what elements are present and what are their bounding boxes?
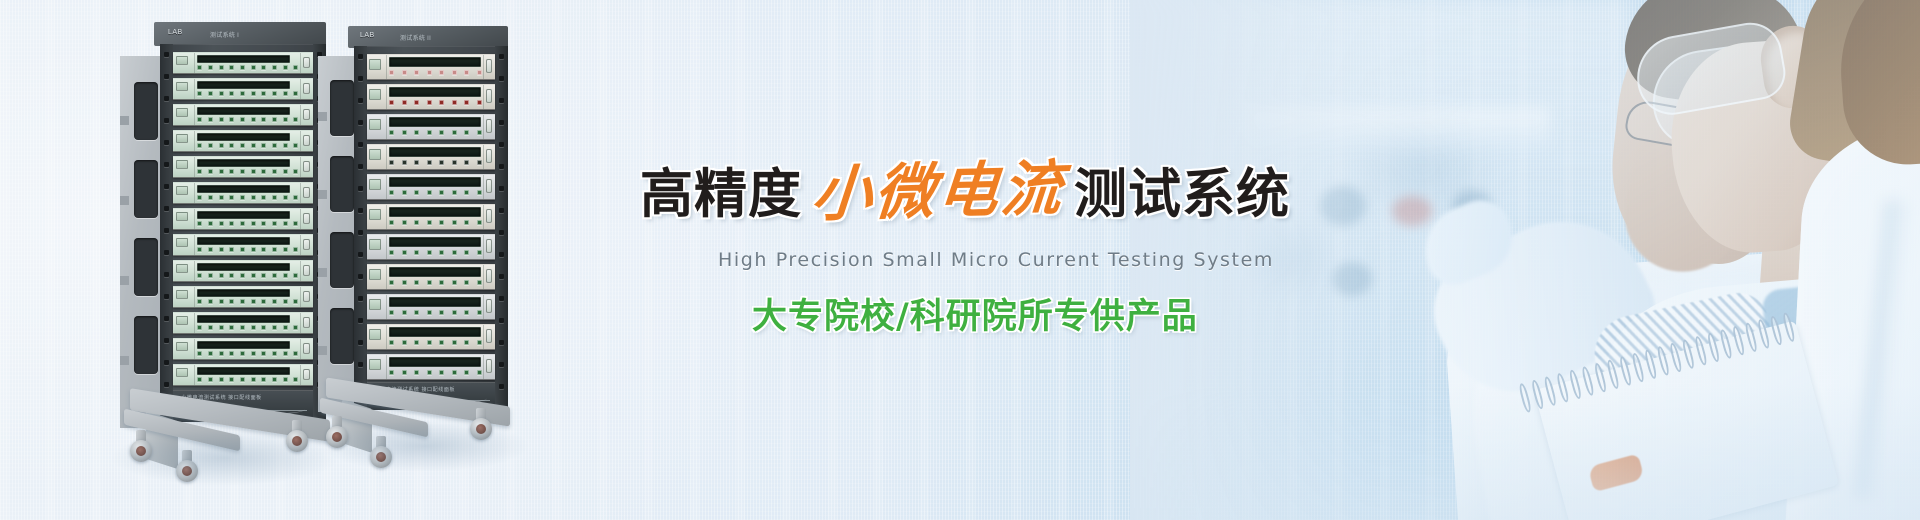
module-center xyxy=(387,355,483,379)
module-knob[interactable] xyxy=(303,265,310,277)
rack-brand-label: LAB xyxy=(360,32,375,39)
module-display-small xyxy=(176,368,189,377)
module-button-row[interactable] xyxy=(197,167,298,175)
instrument-module[interactable] xyxy=(173,364,313,386)
module-center xyxy=(195,131,300,151)
instrument-module[interactable] xyxy=(367,354,495,380)
rack-side-notch xyxy=(318,268,327,277)
instrument-module[interactable] xyxy=(173,182,313,204)
rack-frame: 小微电流测试系统 接口配线面板 xyxy=(354,46,508,410)
module-left-bay xyxy=(173,261,195,281)
module-center xyxy=(195,53,300,73)
module-readout xyxy=(197,341,289,349)
rack-side-notch xyxy=(120,276,129,285)
rack-brand-label: LAB xyxy=(168,29,183,36)
module-left-bay xyxy=(173,209,195,229)
module-readout xyxy=(389,207,480,217)
module-button-row[interactable] xyxy=(389,278,481,287)
module-readout xyxy=(389,267,480,277)
module-right-bay xyxy=(300,157,313,177)
module-center xyxy=(387,115,483,139)
module-knob[interactable] xyxy=(486,299,492,313)
module-button-row[interactable] xyxy=(389,188,481,197)
module-right-bay xyxy=(300,313,313,333)
module-right-bay xyxy=(483,325,495,349)
module-left-bay xyxy=(367,145,387,169)
module-button-row[interactable] xyxy=(197,271,298,279)
module-left-bay xyxy=(173,53,195,73)
module-right-bay xyxy=(300,79,313,99)
headline-trail-text: 测试系统 xyxy=(1074,168,1290,221)
module-display-small xyxy=(369,239,381,250)
module-center xyxy=(195,313,300,333)
module-right-bay xyxy=(300,209,313,229)
rack-vent-slot xyxy=(134,82,159,140)
module-knob[interactable] xyxy=(303,135,310,147)
rack-cabinet-right: LAB 测试系统 II xyxy=(318,26,518,434)
module-left-bay xyxy=(367,235,387,259)
product-banner: LAB 测试系统 I xyxy=(0,0,1920,520)
rack-cabinet-left: LAB 测试系统 I xyxy=(120,22,340,442)
instrument-module[interactable] xyxy=(173,130,313,152)
module-left-bay xyxy=(173,183,195,203)
module-readout xyxy=(389,327,480,337)
module-button-row[interactable] xyxy=(197,323,298,331)
module-display-small xyxy=(369,299,381,310)
module-button-row[interactable] xyxy=(197,63,298,71)
module-right-bay xyxy=(483,235,495,259)
module-right-bay xyxy=(300,261,313,281)
module-right-bay xyxy=(483,205,495,229)
module-knob[interactable] xyxy=(303,213,310,225)
rack-vent-slot xyxy=(134,238,159,296)
module-readout xyxy=(197,185,289,193)
instrument-module[interactable] xyxy=(173,234,313,256)
module-left-bay xyxy=(367,355,387,379)
module-center xyxy=(387,85,483,109)
module-readout xyxy=(197,289,289,297)
headline-lead-text: 高精度 xyxy=(640,168,802,221)
module-left-bay xyxy=(173,339,195,359)
module-right-bay xyxy=(483,355,495,379)
module-knob[interactable] xyxy=(303,83,310,95)
rack-side-notch xyxy=(318,112,327,121)
rack-floor-shadow xyxy=(110,430,340,486)
module-button-row[interactable] xyxy=(197,89,298,97)
module-button-row[interactable] xyxy=(197,297,298,305)
module-center xyxy=(387,295,483,319)
module-readout xyxy=(197,315,289,323)
module-display-small xyxy=(176,290,189,299)
module-readout xyxy=(389,297,480,307)
module-center xyxy=(387,55,483,79)
module-right-bay xyxy=(300,105,313,125)
module-button-row[interactable] xyxy=(197,245,298,253)
module-readout xyxy=(389,177,480,187)
module-right-bay xyxy=(300,53,313,73)
module-display-small xyxy=(369,359,381,370)
module-center xyxy=(387,205,483,229)
module-knob[interactable] xyxy=(486,89,492,103)
module-readout xyxy=(197,263,289,271)
instrument-module[interactable] xyxy=(367,294,495,320)
module-readout xyxy=(389,147,480,157)
rack-side-notch xyxy=(120,196,129,205)
module-readout xyxy=(389,237,480,247)
module-button-row[interactable] xyxy=(389,98,481,107)
module-display-small xyxy=(369,179,381,190)
module-left-bay xyxy=(367,295,387,319)
module-left-bay xyxy=(367,55,387,79)
headline-accent-text: 小微电流 xyxy=(799,158,1076,225)
instrument-module[interactable] xyxy=(367,264,495,290)
module-left-bay xyxy=(173,131,195,151)
module-knob[interactable] xyxy=(486,359,492,373)
module-left-bay xyxy=(173,313,195,333)
module-knob[interactable] xyxy=(303,57,310,69)
instrument-module[interactable] xyxy=(173,312,313,334)
rack-mounting-rail-right xyxy=(495,46,508,410)
module-knob[interactable] xyxy=(486,149,492,163)
module-right-bay xyxy=(300,365,313,385)
module-knob[interactable] xyxy=(303,239,310,251)
rack-top-cap: LAB 测试系统 II xyxy=(348,26,508,48)
module-right-bay xyxy=(483,295,495,319)
module-right-bay xyxy=(483,55,495,79)
module-readout xyxy=(389,357,480,367)
module-left-bay xyxy=(173,235,195,255)
rack-side-notch xyxy=(120,116,129,125)
module-display-small xyxy=(176,160,189,169)
module-display-small xyxy=(369,89,381,100)
module-display-small xyxy=(176,264,189,273)
module-button-row[interactable] xyxy=(197,349,298,357)
module-center xyxy=(195,287,300,307)
module-center xyxy=(195,235,300,255)
module-left-bay xyxy=(173,287,195,307)
rack-side-notch xyxy=(318,346,327,355)
module-knob[interactable] xyxy=(303,187,310,199)
instrument-module[interactable] xyxy=(367,204,495,230)
rack-vent-slot xyxy=(330,308,353,364)
module-knob[interactable] xyxy=(486,269,492,283)
module-button-row[interactable] xyxy=(389,368,481,377)
rack-mounting-rail-left xyxy=(354,46,367,410)
module-readout xyxy=(197,81,289,89)
rack-model-badge: 测试系统 II xyxy=(400,33,431,42)
module-knob[interactable] xyxy=(303,109,310,121)
module-display-small xyxy=(176,108,189,117)
module-right-bay xyxy=(300,235,313,255)
module-knob[interactable] xyxy=(486,329,492,343)
rack-top-cap: LAB 测试系统 I xyxy=(154,22,326,46)
module-display-small xyxy=(369,209,381,220)
module-display-small xyxy=(176,212,189,221)
module-right-bay xyxy=(483,115,495,139)
module-knob[interactable] xyxy=(486,59,492,73)
module-display-small xyxy=(176,56,189,65)
module-display-small xyxy=(369,329,381,340)
banner-headline: 高精度 小微电流 测试系统 xyxy=(640,162,1290,222)
module-knob[interactable] xyxy=(486,119,492,133)
instrument-module[interactable] xyxy=(173,78,313,100)
module-button-row[interactable] xyxy=(389,248,481,257)
module-left-bay xyxy=(367,205,387,229)
module-knob[interactable] xyxy=(486,239,492,253)
module-button-row[interactable] xyxy=(197,219,298,227)
banner-tagline: 大专院校/科研院所专供产品 xyxy=(752,288,1198,339)
rack-mounting-rail-left xyxy=(160,44,173,422)
module-knob[interactable] xyxy=(303,161,310,173)
rack-vent-slot xyxy=(134,316,159,374)
module-right-bay xyxy=(300,131,313,151)
rack-vent-slot xyxy=(330,232,353,288)
rack-vent-slot xyxy=(330,80,353,136)
module-readout xyxy=(389,57,480,67)
instrument-module[interactable] xyxy=(173,104,313,126)
instrument-module[interactable] xyxy=(367,114,495,140)
equipment-racks: LAB 测试系统 I xyxy=(0,0,620,520)
rack-side-notch xyxy=(318,190,327,199)
module-readout xyxy=(197,133,289,141)
module-center xyxy=(195,261,300,281)
module-readout xyxy=(197,107,289,115)
module-display-small xyxy=(369,149,381,160)
module-display-small xyxy=(176,342,189,351)
instrument-module[interactable] xyxy=(173,208,313,230)
module-right-bay xyxy=(483,85,495,109)
module-display-small xyxy=(369,269,381,280)
module-center xyxy=(195,183,300,203)
module-button-row[interactable] xyxy=(389,68,481,77)
module-left-bay xyxy=(173,79,195,99)
module-right-bay xyxy=(483,175,495,199)
module-readout xyxy=(197,55,289,63)
module-button-row[interactable] xyxy=(197,375,298,383)
module-center xyxy=(195,79,300,99)
module-display-small xyxy=(176,134,189,143)
module-left-bay xyxy=(173,365,195,385)
module-knob[interactable] xyxy=(303,317,310,329)
module-readout xyxy=(389,117,480,127)
module-right-bay xyxy=(483,145,495,169)
module-knob[interactable] xyxy=(486,209,492,223)
rack-side-notch xyxy=(120,356,129,365)
module-display-small xyxy=(176,186,189,195)
module-center xyxy=(387,325,483,349)
instrument-module[interactable] xyxy=(173,260,313,282)
module-button-row[interactable] xyxy=(389,218,481,227)
rack-model-badge: 测试系统 I xyxy=(210,30,239,39)
module-readout xyxy=(197,367,289,375)
module-left-bay xyxy=(173,157,195,177)
instrument-module[interactable] xyxy=(173,156,313,178)
module-knob[interactable] xyxy=(303,343,310,355)
module-readout xyxy=(389,87,480,97)
instrument-module[interactable] xyxy=(367,174,495,200)
module-center xyxy=(387,175,483,199)
rack-floor-shadow xyxy=(320,420,530,472)
module-right-bay xyxy=(300,339,313,359)
module-button-row[interactable] xyxy=(197,193,298,201)
instrument-module[interactable] xyxy=(173,338,313,360)
module-knob[interactable] xyxy=(303,369,310,381)
module-button-row[interactable] xyxy=(389,128,481,137)
module-display-small xyxy=(176,82,189,91)
module-right-bay xyxy=(300,287,313,307)
module-center xyxy=(195,365,300,385)
module-knob[interactable] xyxy=(486,179,492,193)
module-display-small xyxy=(176,238,189,247)
instrument-module[interactable] xyxy=(367,144,495,170)
rack-vent-slot xyxy=(330,156,353,212)
rack-vent-slot xyxy=(134,160,159,218)
module-right-bay xyxy=(300,183,313,203)
rack-frame: 小微电流测试系统 接口配线面板 xyxy=(160,44,326,422)
module-center xyxy=(387,265,483,289)
module-center xyxy=(195,105,300,125)
module-left-bay xyxy=(367,265,387,289)
module-left-bay xyxy=(367,85,387,109)
module-center xyxy=(195,339,300,359)
module-display-small xyxy=(369,119,381,130)
module-right-bay xyxy=(483,265,495,289)
instrument-module[interactable] xyxy=(173,52,313,74)
module-readout xyxy=(197,237,289,245)
module-button-row[interactable] xyxy=(197,115,298,123)
module-display-small xyxy=(176,316,189,325)
instrument-module[interactable] xyxy=(367,84,495,110)
module-readout xyxy=(197,159,289,167)
module-readout xyxy=(197,211,289,219)
module-knob[interactable] xyxy=(303,291,310,303)
banner-english-subtitle: High Precision Small Micro Current Testi… xyxy=(718,249,1274,271)
module-left-bay xyxy=(173,105,195,125)
instrument-module[interactable] xyxy=(173,286,313,308)
module-center xyxy=(387,145,483,169)
module-center xyxy=(387,235,483,259)
instrument-module[interactable] xyxy=(367,54,495,80)
module-button-row[interactable] xyxy=(389,158,481,167)
module-left-bay xyxy=(367,175,387,199)
module-button-row[interactable] xyxy=(389,308,481,317)
module-button-row[interactable] xyxy=(389,338,481,347)
instrument-module[interactable] xyxy=(367,324,495,350)
module-left-bay xyxy=(367,115,387,139)
module-center xyxy=(195,209,300,229)
module-left-bay xyxy=(367,325,387,349)
instrument-module[interactable] xyxy=(367,234,495,260)
module-display-small xyxy=(369,59,381,70)
module-button-row[interactable] xyxy=(197,141,298,149)
module-center xyxy=(195,157,300,177)
